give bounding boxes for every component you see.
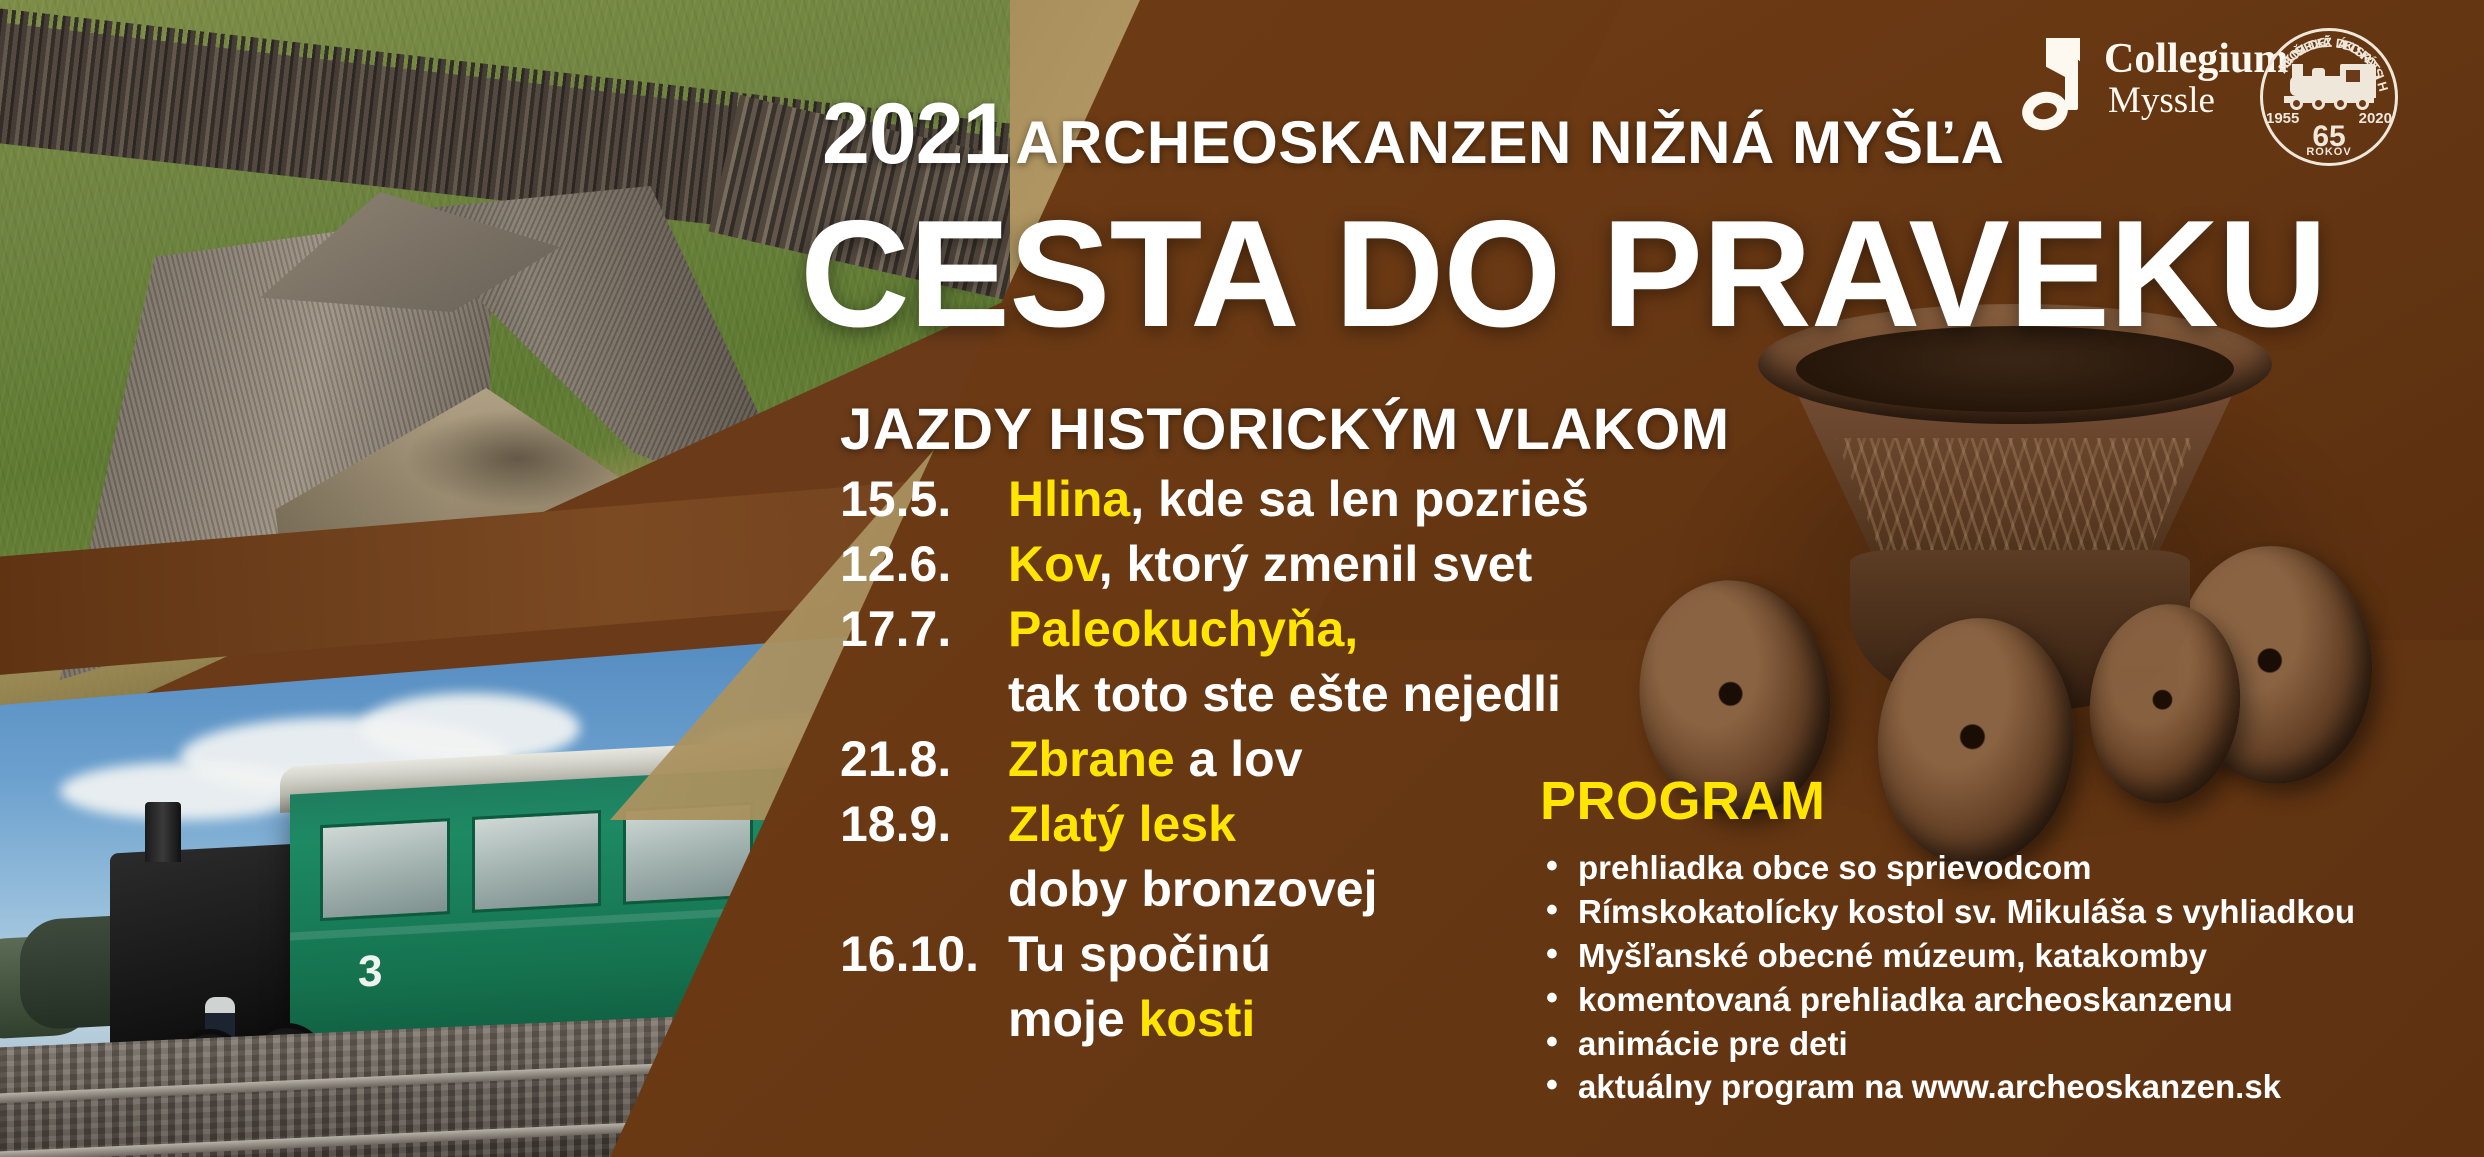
ride-title-line2: moje kosti [1008, 990, 1255, 1048]
ride-date: 15.5. [840, 470, 1008, 528]
program-item: komentovaná prehliadka archeoskanzenu [1540, 978, 2440, 1022]
section-title: JAZDY HISTORICKÝM VLAKOM [840, 396, 1730, 463]
logo-anniversary-word: ROKOV [2254, 146, 2404, 158]
collegium-myssle-logo: Collegium Myssle [2020, 38, 2288, 136]
locomotive-smokestack [145, 802, 181, 862]
coach-window [320, 818, 450, 921]
ride-date: 17.7. [840, 600, 1008, 658]
ride-title-highlight: Zbrane [1008, 731, 1175, 787]
ride-title: Hlina, kde sa len pozrieš [1008, 470, 1589, 528]
ride-date-row-continuation: 18.9.doby bronzovej [840, 860, 1600, 918]
ride-date-row: 21.8.Zbrane a lov [840, 730, 1600, 788]
year-label: 2021 [822, 96, 1009, 173]
ride-date: 18.9. [840, 795, 1008, 853]
ride-date-row: 17.7.Paleokuchyňa, [840, 600, 1600, 658]
poster-root: ČSD Ci a-3542 3 3 2021 ARCHEOSKANZEN NIŽ… [0, 0, 2484, 1157]
kosicka-detska-historicka-zeleznica-logo: KOŠICKÁ DETSKÁ HISTORICKÁ ŽELEZNICA 1955… [2254, 22, 2404, 172]
ride-title-line2: doby bronzovej [1008, 860, 1377, 918]
ride-title: Zlatý lesk [1008, 795, 1236, 853]
ride-title: Zbrane a lov [1008, 730, 1303, 788]
ride-date-row: 12.6.Kov, ktorý zmenil svet [840, 535, 1600, 593]
ride-title-highlight: kosti [1139, 991, 1256, 1047]
ride-date: 21.8. [840, 730, 1008, 788]
ride-title-highlight: Kov [1008, 536, 1099, 592]
page-title: CESTA DO PRAVEKU [800, 198, 2327, 350]
program-item: animácie pre deti [1540, 1022, 2440, 1066]
coach-class-left: 3 [358, 946, 382, 997]
vessel-decoration [1820, 438, 2210, 558]
ride-date-row-continuation: 16.10.moje kosti [840, 990, 1600, 1048]
venue-label: ARCHEOSKANZEN NIŽNÁ MYŠĽA [1015, 116, 2004, 170]
program-item: prehliadka obce so sprievodcom [1540, 846, 2440, 890]
ride-title-highlight: Paleokuchyňa, [1008, 601, 1358, 657]
program-block: PROGRAM prehliadka obce so sprievodcomRí… [1540, 770, 2440, 1109]
ride-date-row: 16.10.Tu spočinú [840, 925, 1600, 983]
ride-date-list: 15.5.Hlina, kde sa len pozrieš12.6.Kov, … [840, 470, 1600, 1055]
ride-date-row: 15.5.Hlina, kde sa len pozrieš [840, 470, 1600, 528]
ride-title-line2: tak toto ste ešte nejedli [1008, 665, 1561, 723]
coach-window [472, 810, 602, 913]
clay-wagon-vessel [1620, 318, 2440, 838]
program-item: Myšľanské obecné múzeum, katakomby [1540, 934, 2440, 978]
ride-date: 12.6. [840, 535, 1008, 593]
program-item: Rímskokatolícky kostol sv. Mikuláša s vy… [1540, 890, 2440, 934]
ride-date: 16.10. [840, 925, 1008, 983]
program-list: prehliadka obce so sprievodcomRímskokato… [1540, 846, 2440, 1109]
ride-title-highlight: Zlatý lesk [1008, 796, 1236, 852]
kicker-line: 2021 ARCHEOSKANZEN NIŽNÁ MYŠĽA [822, 96, 2005, 173]
program-title: PROGRAM [1540, 770, 2440, 832]
steam-locomotive-icon [2282, 64, 2376, 110]
ride-title: Tu spočinú [1008, 925, 1271, 983]
music-note-icon [2020, 38, 2094, 136]
ride-date-row-continuation: 17.7.tak toto ste ešte nejedli [840, 665, 1600, 723]
ride-title: Kov, ktorý zmenil svet [1008, 535, 1532, 593]
cloud [60, 762, 310, 820]
program-item: aktuálny program na www.archeoskanzen.sk [1540, 1065, 2440, 1109]
ride-date-row: 18.9.Zlatý lesk [840, 795, 1600, 853]
ride-title: Paleokuchyňa, [1008, 600, 1358, 658]
ride-title-highlight: Hlina [1008, 471, 1130, 527]
